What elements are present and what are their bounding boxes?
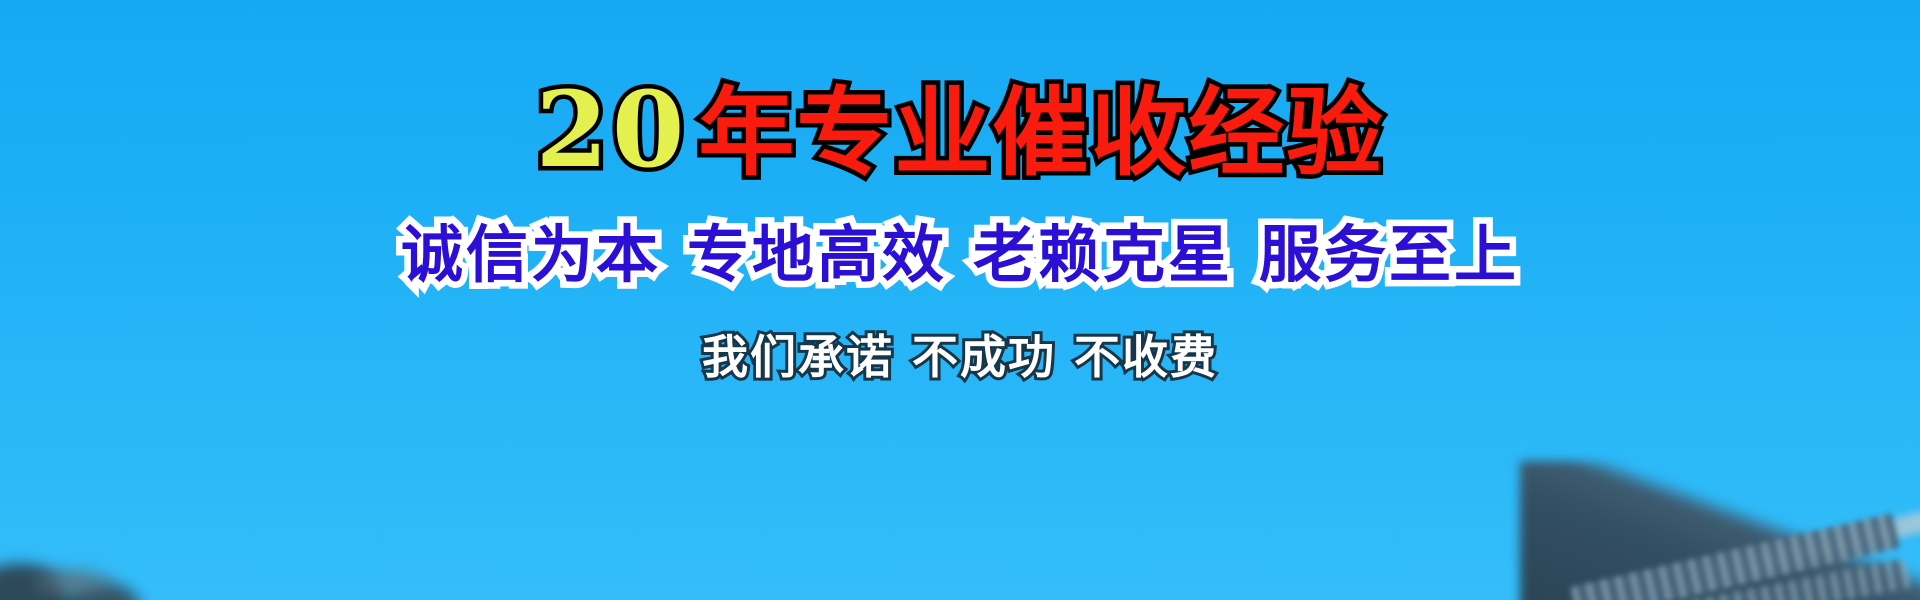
promise-phrase-1: 我们承诺 xyxy=(702,330,894,384)
promise-phrase-2: 不成功 xyxy=(912,330,1056,384)
slogan-phrase-2: 专地高效 xyxy=(687,218,947,291)
promise-line: 我们承诺不成功不收费 xyxy=(702,334,1218,380)
slogan-line: 诚信为本专地高效老赖克星服务至上 xyxy=(401,224,1519,286)
slogan-phrase-1: 诚信为本 xyxy=(401,218,661,291)
promise-phrase-3: 不收费 xyxy=(1074,330,1218,384)
slogan-phrase-4: 服务至上 xyxy=(1259,218,1519,291)
headline-main-text: 年专业催收经验 xyxy=(698,77,1384,189)
banner-text-stack: 20年专业催收经验 诚信为本专地高效老赖克星服务至上 我们承诺不成功不收费 xyxy=(0,0,1920,600)
promo-banner: 20年专业催收经验 诚信为本专地高效老赖克星服务至上 我们承诺不成功不收费 xyxy=(0,0,1920,600)
headline-years-number: 20 xyxy=(536,68,689,191)
slogan-phrase-3: 老赖克星 xyxy=(973,218,1233,291)
headline: 20年专业催收经验 xyxy=(536,78,1385,182)
